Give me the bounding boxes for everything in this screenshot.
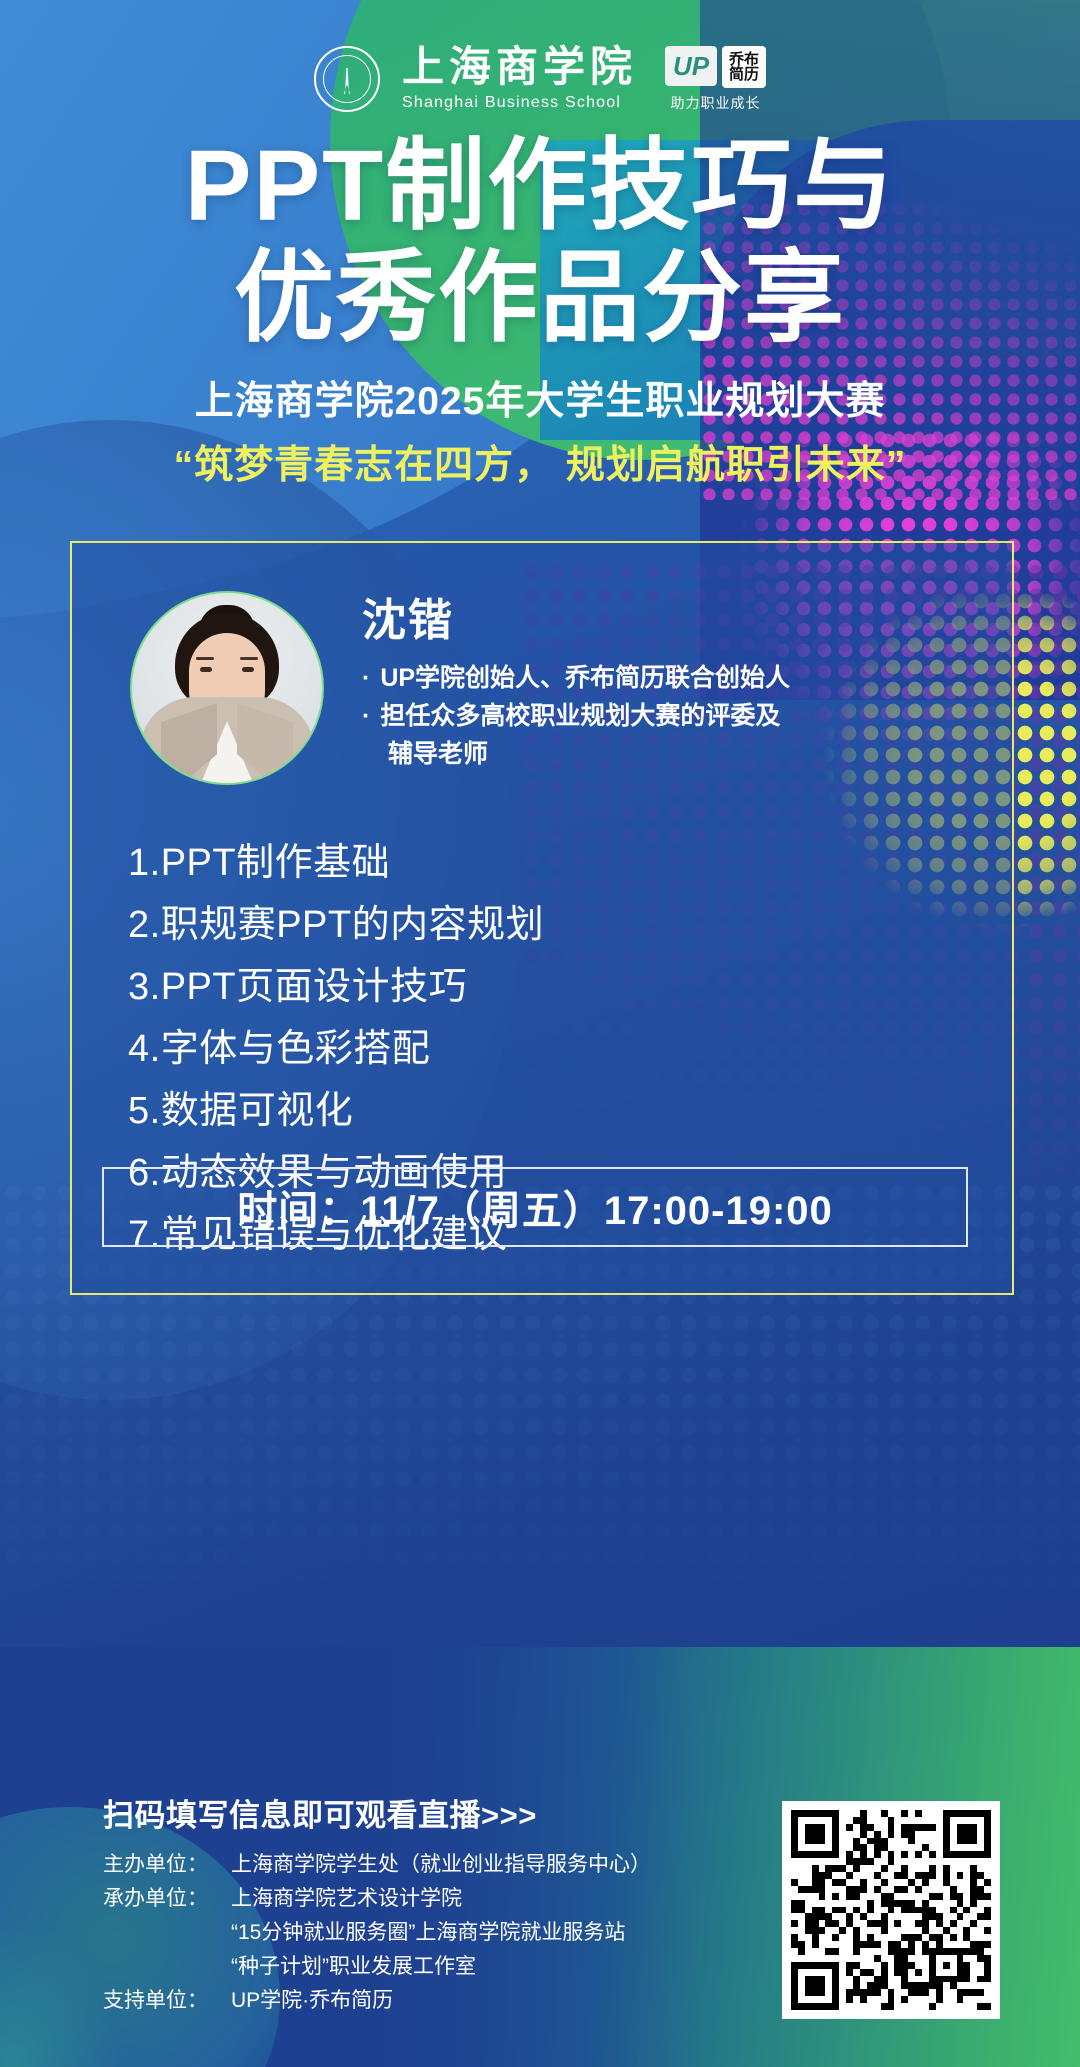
- background-corner-glow: [0, 1917, 120, 2067]
- organizer-extra: “15分钟就业服务圈”上海商学院就业服务站: [103, 1916, 651, 1950]
- title-line-2: 优秀作品分享: [0, 244, 1080, 352]
- university-seal-icon: [314, 46, 380, 112]
- organizer-value: 上海商学院艺术设计学院: [231, 1882, 462, 1916]
- partner-tagline: 助力职业成长: [671, 93, 761, 113]
- organizer-label: 主办单位：: [103, 1848, 231, 1882]
- poster-header: 上海商学院 Shanghai Business School UP 乔布 简历 …: [0, 36, 1080, 122]
- list-item: 5.数据可视化: [128, 1081, 544, 1143]
- qr-code[interactable]: [782, 1801, 1000, 2019]
- speaker-credential-continuation: 辅导老师: [362, 735, 790, 773]
- up-logo-icon: UP: [665, 46, 717, 86]
- list-item: 4.字体与色彩搭配: [128, 1019, 544, 1081]
- supporter-row: 支持单位： UP学院·乔布简历: [103, 1984, 651, 2018]
- poster-slogan: “筑梦青春志在四方， 规划启航职引未来”: [0, 434, 1080, 490]
- title-line-1: PPT制作技巧与: [0, 132, 1080, 240]
- avatar-brow-left: [196, 657, 214, 660]
- poster-subtitle: 上海商学院2025年大学生职业规划大赛: [0, 370, 1080, 426]
- partner-logo-row: UP 乔布 简历: [665, 46, 766, 88]
- speaker-info: 沈锴 · UP学院创始人、乔布简历联合创始人 · 担任众多高校职业规划大赛的评委…: [362, 591, 790, 785]
- organizer-row: 承办单位： 上海商学院艺术设计学院: [103, 1882, 651, 1916]
- content-card: 沈锴 · UP学院创始人、乔布简历联合创始人 · 担任众多高校职业规划大赛的评委…: [70, 541, 1014, 1295]
- avatar-eye-right: [242, 667, 254, 672]
- qr-code-matrix: [791, 1810, 991, 2010]
- organizer-value: 上海商学院学生处（就业创业指导服务中心）: [231, 1848, 651, 1882]
- list-item: · 担任众多高校职业规划大赛的评委及: [362, 697, 790, 735]
- list-item: 2.职规赛PPT的内容规划: [128, 895, 544, 957]
- qiaobu-logo-line2: 简历: [729, 67, 759, 82]
- list-item: · UP学院创始人、乔布简历联合创始人: [362, 659, 790, 697]
- avatar: [130, 591, 324, 785]
- qiaobu-logo-line1: 乔布: [729, 52, 759, 67]
- bullet-dot-icon: ·: [362, 659, 370, 697]
- list-item: 1.PPT制作基础: [128, 833, 544, 895]
- list-item: 3.PPT页面设计技巧: [128, 957, 544, 1019]
- school-name-en: Shanghai Business School: [402, 94, 637, 112]
- scan-cta-text: 扫码填写信息即可观看直播>>>: [103, 1790, 537, 1835]
- supporter-value: UP学院·乔布简历: [231, 1984, 393, 2018]
- event-time-box: 时间：11/7（周五）17:00-19:00: [102, 1167, 968, 1247]
- supporter-label: 支持单位：: [103, 1984, 231, 2018]
- school-logotype: 上海商学院 Shanghai Business School: [402, 46, 637, 112]
- speaker-block: 沈锴 · UP学院创始人、乔布简历联合创始人 · 担任众多高校职业规划大赛的评委…: [130, 591, 960, 785]
- speaker-name: 沈锴: [362, 597, 790, 645]
- partner-logos: UP 乔布 简历 助力职业成长: [665, 46, 766, 113]
- organizer-row: 主办单位： 上海商学院学生处（就业创业指导服务中心）: [103, 1848, 651, 1882]
- bullet-dot-icon: ·: [362, 697, 370, 735]
- avatar-eye-left: [200, 667, 212, 672]
- qiaobu-logo-icon: 乔布 简历: [722, 46, 766, 88]
- organizer-extra: “种子计划”职业发展工作室: [103, 1950, 651, 1984]
- speaker-credentials: · UP学院创始人、乔布简历联合创始人 · 担任众多高校职业规划大赛的评委及 辅…: [362, 659, 790, 773]
- poster-title: PPT制作技巧与 优秀作品分享: [0, 132, 1080, 352]
- poster-root: 上海商学院 Shanghai Business School UP 乔布 简历 …: [0, 0, 1080, 2067]
- event-time-text: 时间：11/7（周五）17:00-19:00: [237, 1178, 833, 1236]
- speaker-credential-text: UP学院创始人、乔布简历联合创始人: [380, 659, 790, 697]
- avatar-brow-right: [240, 657, 258, 660]
- organizer-label: 承办单位：: [103, 1882, 231, 1916]
- speaker-credential-text: 担任众多高校职业规划大赛的评委及: [380, 697, 780, 735]
- school-name-cn: 上海商学院: [402, 46, 637, 88]
- organizer-list: 主办单位： 上海商学院学生处（就业创业指导服务中心） 承办单位： 上海商学院艺术…: [103, 1848, 651, 2018]
